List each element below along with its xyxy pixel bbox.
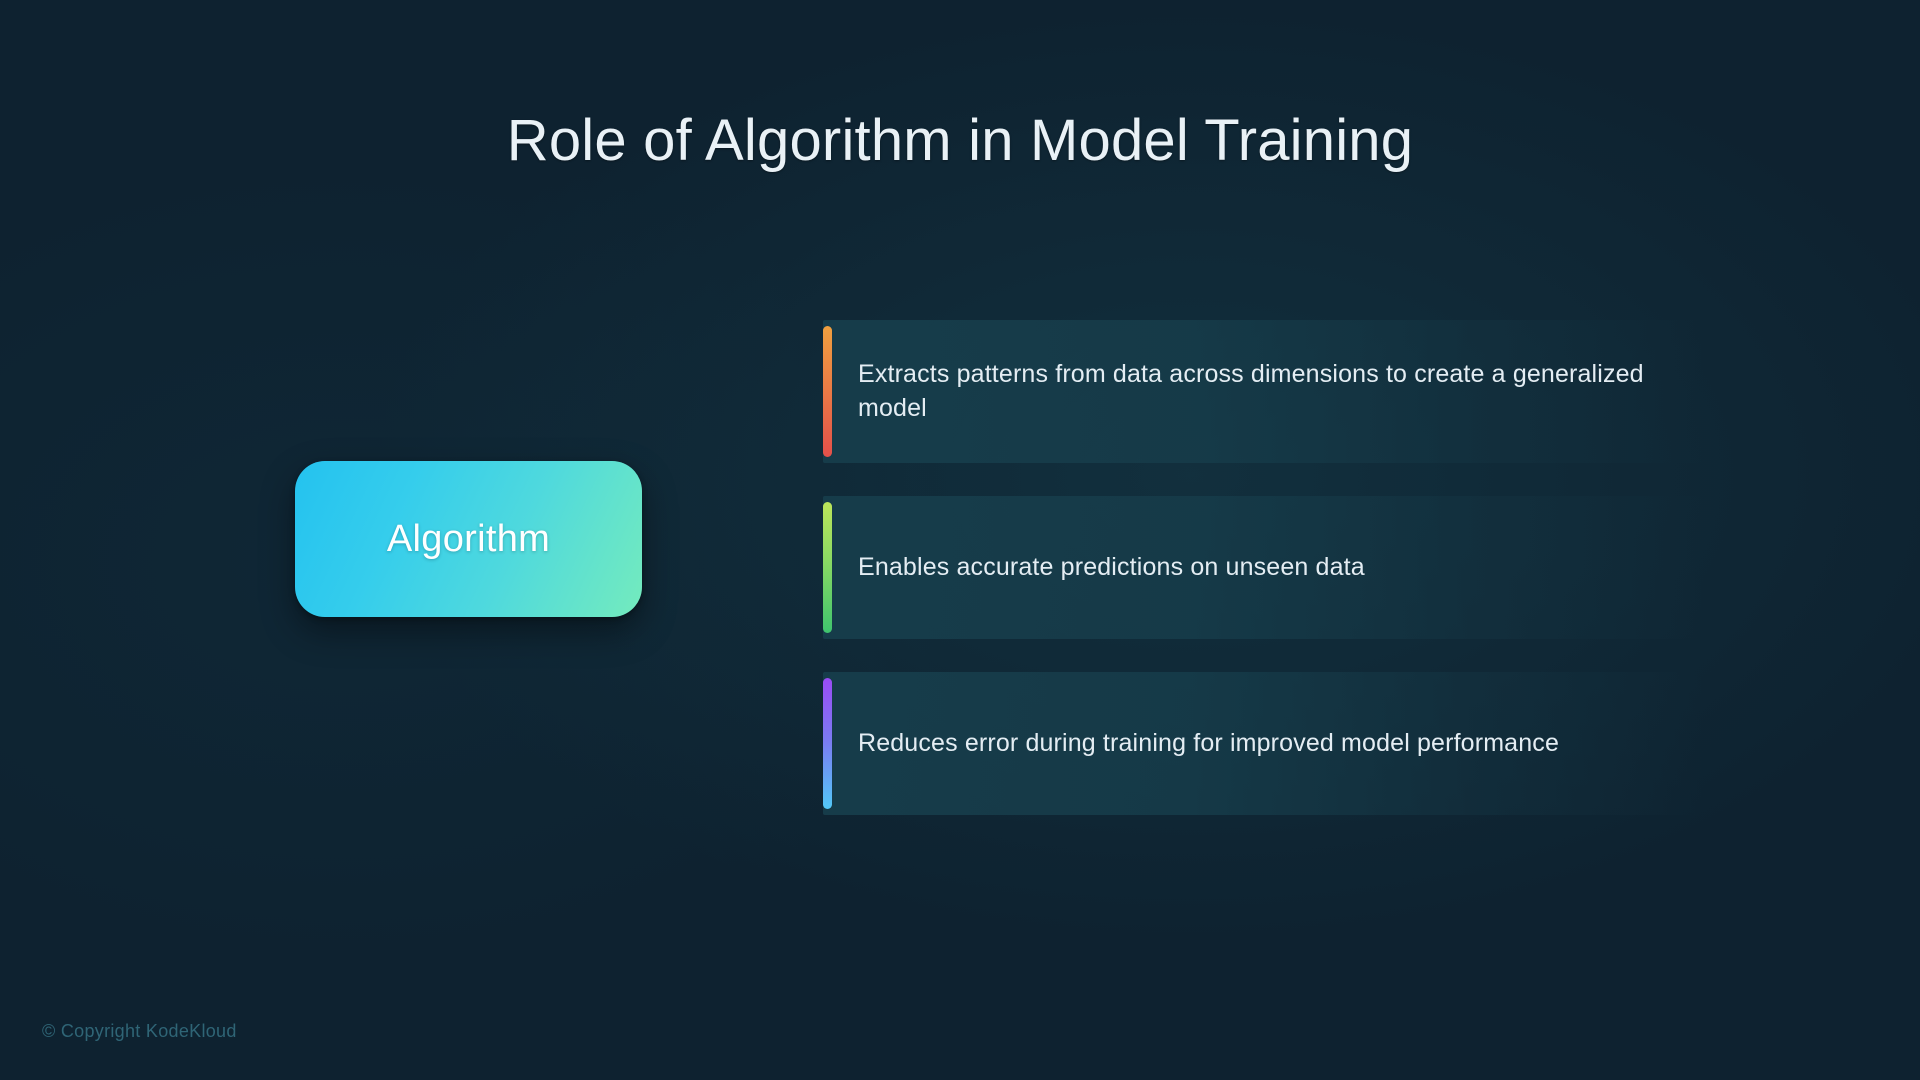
algorithm-node-label: Algorithm <box>387 518 550 561</box>
accent-bar-icon <box>823 326 832 457</box>
benefit-card: Extracts patterns from data across dimen… <box>823 320 1703 463</box>
accent-bar-icon <box>823 502 832 633</box>
benefit-card: Reduces error during training for improv… <box>823 672 1703 815</box>
slide-canvas: Role of Algorithm in Model Training Algo… <box>0 0 1920 1080</box>
algorithm-node: Algorithm <box>295 461 642 617</box>
benefit-card-text: Reduces error during training for improv… <box>823 727 1559 761</box>
benefit-card-text: Extracts patterns from data across dimen… <box>823 358 1703 426</box>
benefit-card-text: Enables accurate predictions on unseen d… <box>823 551 1365 585</box>
accent-bar-icon <box>823 678 832 809</box>
page-title: Role of Algorithm in Model Training <box>0 107 1920 175</box>
copyright-footer: © Copyright KodeKloud <box>42 1021 237 1042</box>
benefit-card-list: Extracts patterns from data across dimen… <box>823 320 1703 815</box>
benefit-card: Enables accurate predictions on unseen d… <box>823 496 1703 639</box>
